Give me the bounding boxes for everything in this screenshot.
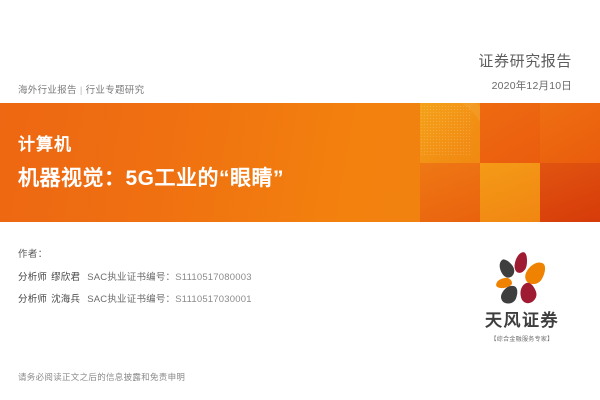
- author-cert-label: SAC执业证书编号：: [87, 272, 175, 283]
- author-row: 分析师缪欣君SAC执业证书编号：S1110517080003: [18, 269, 252, 283]
- mosaic-tile-4: [420, 163, 480, 223]
- authors-block: 作者： 分析师缪欣君SAC执业证书编号：S1110517080003 分析师沈海…: [18, 246, 252, 313]
- flower-logo-icon: [491, 252, 553, 308]
- author-cert-number: S1110517030001: [175, 294, 251, 305]
- banner-text-block: 计算机 机器视觉：5G工业的“眼睛”: [18, 103, 284, 222]
- report-cover-page: 证券研究报告 2020年12月10日 海外行业报告|行业专题研究 计算机 机器视…: [0, 0, 600, 400]
- company-logo: 天风证券 【综合金融服务专家】: [466, 252, 578, 343]
- mosaic-tile-3: [540, 103, 600, 163]
- mosaic-tile-5: [480, 163, 540, 223]
- author-name: 沈海兵: [51, 294, 80, 305]
- breadcrumb-item-secondary: 行业专题研究: [86, 85, 145, 96]
- author-cert-number: S1110517080003: [175, 272, 251, 283]
- author-role: 分析师: [18, 294, 47, 305]
- page-header: 证券研究报告 2020年12月10日 海外行业报告|行业专题研究: [0, 0, 600, 103]
- authors-label: 作者：: [18, 246, 252, 260]
- page-title: 机器视觉：5G工业的“眼睛”: [18, 168, 284, 189]
- author-cert-label: SAC执业证书编号：: [87, 294, 175, 305]
- disclaimer-text: 请务必阅读正文之后的信息披露和免责申明: [18, 371, 185, 383]
- sector-label: 计算机: [18, 136, 284, 153]
- author-name: 缪欣君: [51, 272, 80, 283]
- logo-petal-upper-left-gray: [496, 257, 518, 280]
- report-type-label: 证券研究报告: [478, 50, 572, 71]
- author-role: 分析师: [18, 272, 47, 283]
- report-date: 2020年12月10日: [492, 78, 572, 93]
- breadcrumb-item-primary: 海外行业报告: [18, 85, 77, 96]
- breadcrumb: 海外行业报告|行业专题研究: [18, 82, 144, 96]
- title-banner: 计算机 机器视觉：5G工业的“眼睛”: [0, 103, 600, 222]
- banner-mosaic-decoration: [420, 103, 600, 222]
- mosaic-tile-6: [540, 163, 600, 223]
- company-tagline: 【综合金融服务专家】: [466, 334, 578, 343]
- mosaic-tile-2: [480, 103, 540, 163]
- company-name: 天风证券: [466, 312, 578, 331]
- logo-petal-bottom-red: [517, 281, 538, 305]
- author-row: 分析师沈海兵SAC执业证书编号：S1110517030001: [18, 291, 252, 305]
- breadcrumb-separator: |: [80, 85, 83, 96]
- mosaic-tile-1: [420, 103, 480, 163]
